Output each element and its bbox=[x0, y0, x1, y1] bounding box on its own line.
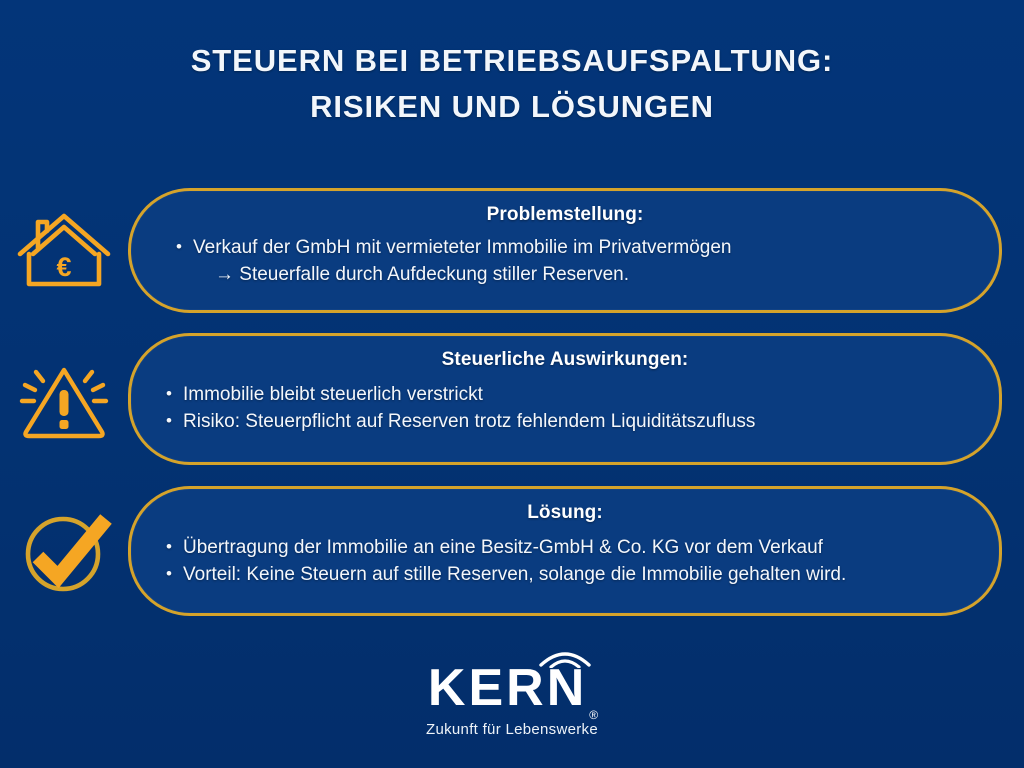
sections-container: € Problemstellung: Verkauf der GmbH mit … bbox=[0, 188, 1024, 616]
card-problemstellung: Problemstellung: Verkauf der GmbH mit ve… bbox=[128, 188, 1002, 313]
card-steuerliche-auswirkungen: Steuerliche Auswirkungen: Immobilie blei… bbox=[128, 333, 1002, 465]
section-row-loesung: Lösung: Übertragung der Immobilie an ein… bbox=[0, 486, 1024, 616]
card-heading: Steuerliche Auswirkungen: bbox=[161, 347, 969, 373]
svg-text:€: € bbox=[56, 252, 71, 282]
bullet-list: Immobilie bleibt steuerlich verstrickt R… bbox=[161, 381, 969, 435]
slide-root: STEUERN BEI BETRIEBSAUFSPALTUNG: RISIKEN… bbox=[0, 0, 1024, 768]
slide-title: STEUERN BEI BETRIEBSAUFSPALTUNG: RISIKEN… bbox=[0, 38, 1024, 130]
bullet-text: Übertragung der Immobilie an eine Besitz… bbox=[183, 537, 823, 558]
card-heading: Problemstellung: bbox=[161, 202, 969, 228]
list-item: Risiko: Steuerpflicht auf Reserven trotz… bbox=[183, 408, 969, 435]
list-item: Vorteil: Keine Steuern auf stille Reserv… bbox=[183, 561, 969, 588]
card-heading: Lösung: bbox=[161, 500, 969, 526]
bullet-text: Vorteil: Keine Steuern auf stille Reserv… bbox=[183, 564, 846, 585]
check-circle-icon bbox=[0, 486, 128, 616]
section-row-problemstellung: € Problemstellung: Verkauf der GmbH mit … bbox=[0, 188, 1024, 313]
registered-trademark-icon: ® bbox=[589, 708, 598, 722]
card-body: Übertragung der Immobilie an eine Besitz… bbox=[161, 526, 969, 601]
bullet-subtext: → Steuerfalle durch Aufdeckung stiller R… bbox=[193, 261, 969, 288]
card-body: Immobilie bleibt steuerlich verstrickt R… bbox=[161, 373, 969, 450]
logo-mark: KERN® bbox=[428, 662, 596, 714]
section-row-steuerliche-auswirkungen: Steuerliche Auswirkungen: Immobilie blei… bbox=[0, 333, 1024, 465]
list-item: Immobilie bleibt steuerlich verstrickt bbox=[183, 381, 969, 408]
logo-tagline: Zukunft für Lebenswerke bbox=[0, 721, 1024, 738]
card-loesung: Lösung: Übertragung der Immobilie an ein… bbox=[128, 486, 1002, 616]
bullet-list: Übertragung der Immobilie an eine Besitz… bbox=[161, 534, 969, 588]
bullet-text: Risiko: Steuerpflicht auf Reserven trotz… bbox=[183, 411, 755, 432]
list-item: Übertragung der Immobilie an eine Besitz… bbox=[183, 534, 969, 561]
bullet-list: Verkauf der GmbH mit vermieteter Immobil… bbox=[161, 234, 969, 288]
warning-triangle-icon bbox=[0, 333, 128, 465]
title-line-1: STEUERN BEI BETRIEBSAUFSPALTUNG: bbox=[0, 38, 1024, 84]
signal-arcs-icon bbox=[538, 646, 592, 672]
bullet-text: Immobilie bleibt steuerlich verstrickt bbox=[183, 384, 483, 405]
bullet-text: Verkauf der GmbH mit vermieteter Immobil… bbox=[193, 237, 732, 258]
card-body: Verkauf der GmbH mit vermieteter Immobil… bbox=[161, 228, 969, 298]
house-euro-icon: € bbox=[0, 188, 128, 313]
title-line-2: RISIKEN UND LÖSUNGEN bbox=[0, 84, 1024, 130]
kern-logo: KERN® Zukunft für Lebenswerke bbox=[0, 662, 1024, 738]
list-item: Verkauf der GmbH mit vermieteter Immobil… bbox=[193, 234, 969, 288]
